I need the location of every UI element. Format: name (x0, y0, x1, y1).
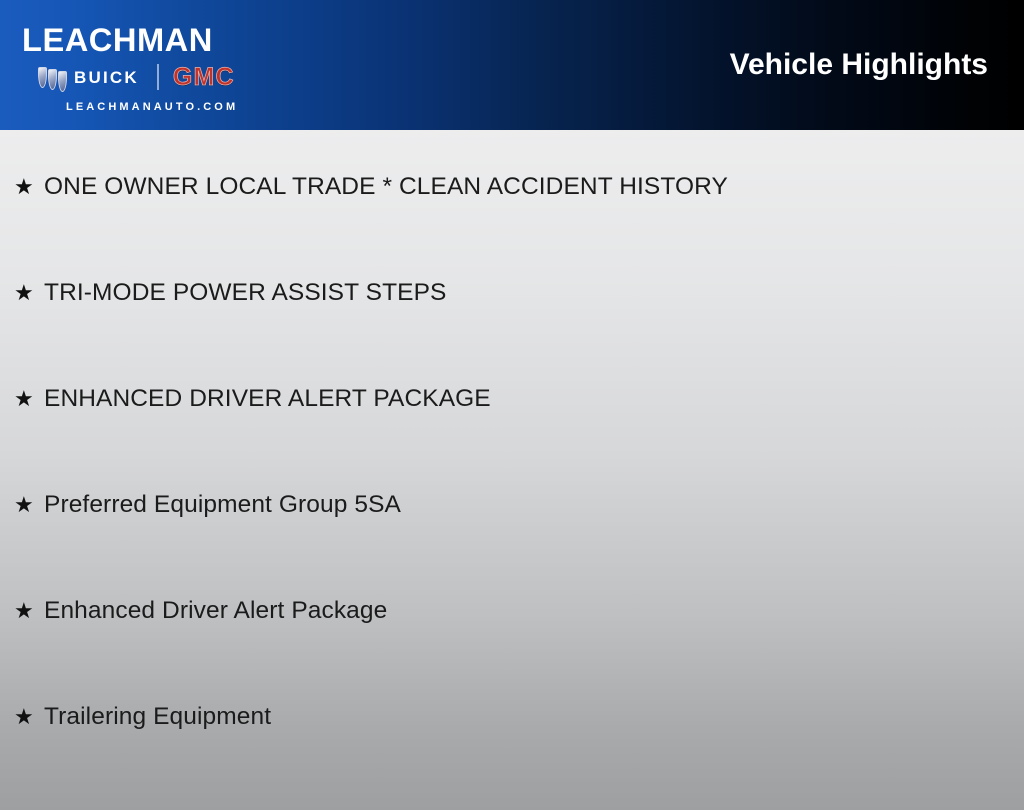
highlight-label: Preferred Equipment Group 5SA (44, 492, 1024, 518)
star-bullet-icon: ★ (14, 174, 44, 200)
buick-tri-shield-icon (38, 67, 67, 88)
brand-row: BUICK GMC (22, 62, 304, 92)
page-header: LEACHMAN BUICK GMC LEACHMANAUTO.COM Vehi… (0, 0, 1024, 130)
gmc-brand-label: GMC (173, 65, 235, 90)
highlights-panel: ★ ONE OWNER LOCAL TRADE * CLEAN ACCIDENT… (0, 130, 1024, 810)
vehicle-highlights-list: ★ ONE OWNER LOCAL TRADE * CLEAN ACCIDENT… (0, 174, 1024, 810)
brand-divider (157, 64, 159, 90)
star-bullet-icon: ★ (14, 704, 44, 730)
list-item: ★ TRI-MODE POWER ASSIST STEPS (0, 280, 1024, 386)
list-item: ★ ONE OWNER LOCAL TRADE * CLEAN ACCIDENT… (0, 174, 1024, 280)
highlight-label: Trailering Equipment (44, 704, 1024, 730)
highlight-label: TRI-MODE POWER ASSIST STEPS (44, 280, 1024, 306)
highlight-label: Enhanced Driver Alert Package (44, 598, 1024, 624)
highlight-label: ONE OWNER LOCAL TRADE * CLEAN ACCIDENT H… (44, 174, 1024, 200)
star-bullet-icon: ★ (14, 492, 44, 518)
highlight-label: ENHANCED DRIVER ALERT PACKAGE (44, 386, 1024, 412)
star-bullet-icon: ★ (14, 386, 44, 412)
list-item: ★ Trailering Equipment (0, 704, 1024, 810)
dealer-logo[interactable]: LEACHMAN BUICK GMC LEACHMANAUTO.COM (22, 14, 304, 120)
list-item: ★ Preferred Equipment Group 5SA (0, 492, 1024, 598)
page-title: Vehicle Highlights (730, 50, 988, 80)
list-item: ★ Enhanced Driver Alert Package (0, 598, 1024, 704)
star-bullet-icon: ★ (14, 598, 44, 624)
dealer-wordmark: LEACHMAN (22, 14, 310, 58)
buick-brand-label: BUICK (74, 69, 139, 86)
vehicle-highlights-page: LEACHMAN BUICK GMC LEACHMANAUTO.COM Vehi… (0, 0, 1024, 768)
dealer-website-url[interactable]: LEACHMANAUTO.COM (22, 102, 304, 113)
star-bullet-icon: ★ (14, 280, 44, 306)
list-item: ★ ENHANCED DRIVER ALERT PACKAGE (0, 386, 1024, 492)
